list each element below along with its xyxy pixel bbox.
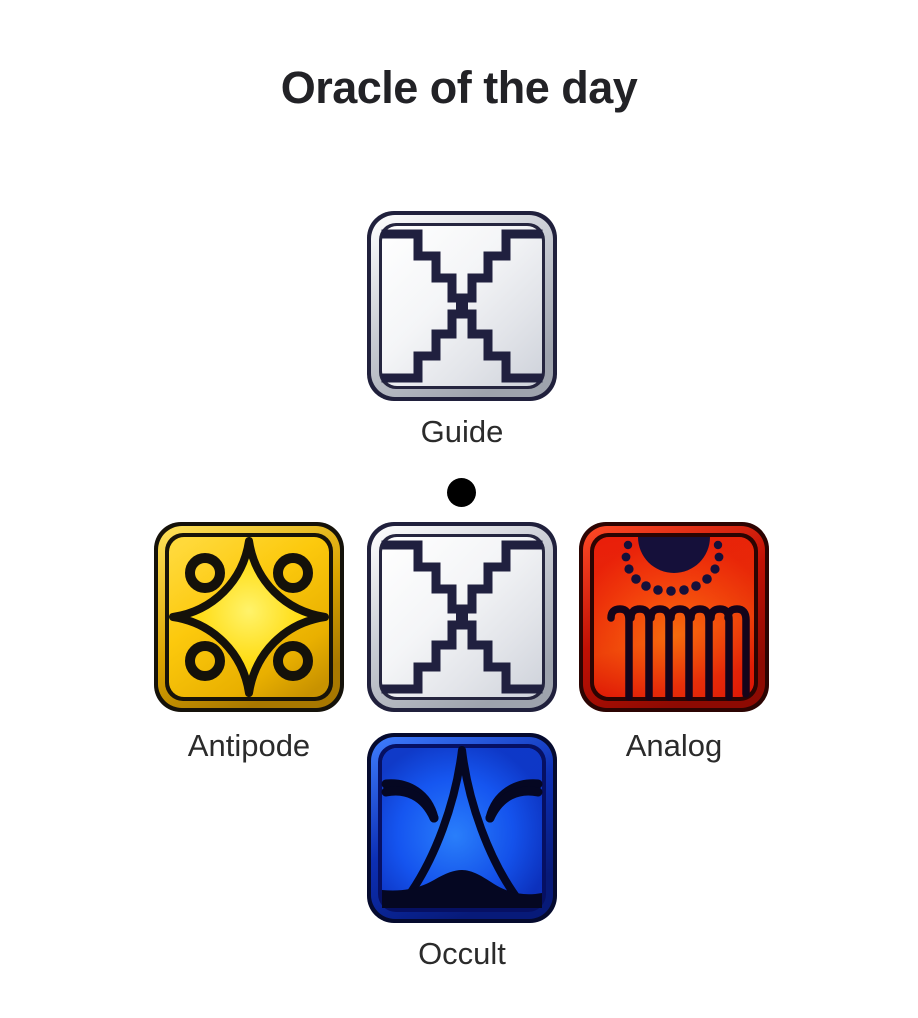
glyph-tile-destiny[interactable] <box>364 519 560 715</box>
skywalker-pillars-icon <box>576 519 772 715</box>
oracle-slot-occult[interactable]: Occult <box>364 730 560 972</box>
slot-label-occult: Occult <box>364 936 560 972</box>
oracle-slot-antipode[interactable] <box>151 519 347 715</box>
slot-label-analog: Analog <box>576 728 772 764</box>
four-point-star-icon <box>151 519 347 715</box>
glyph-tile-guide[interactable] <box>364 208 560 404</box>
glyph-tile-antipode[interactable] <box>151 519 347 715</box>
stepped-hourglass-icon <box>364 208 560 404</box>
kin-dot <box>447 478 476 507</box>
night-face-icon <box>364 730 560 926</box>
oracle-slot-guide[interactable]: Guide <box>364 208 560 450</box>
oracle-cross-layout: Guide <box>0 0 918 1018</box>
oracle-slot-destiny[interactable] <box>364 519 560 715</box>
oracle-of-the-day-page: Oracle of the day <box>0 0 918 1018</box>
glyph-tile-analog[interactable] <box>576 519 772 715</box>
slot-label-guide: Guide <box>364 414 560 450</box>
glyph-tile-occult[interactable] <box>364 730 560 926</box>
oracle-slot-analog[interactable] <box>576 519 772 715</box>
slot-label-antipode: Antipode <box>151 728 347 764</box>
stepped-hourglass-icon <box>364 519 560 715</box>
